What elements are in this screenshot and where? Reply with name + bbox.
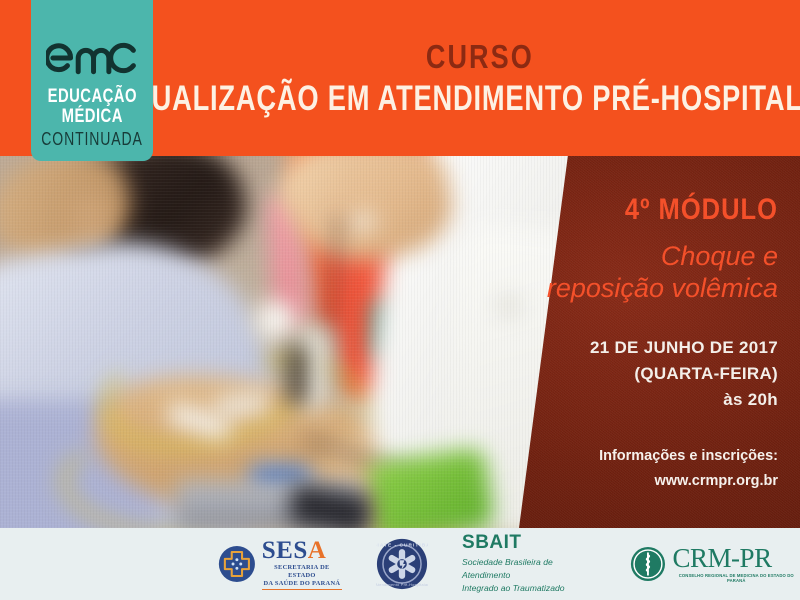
event-date-block: 21 DE JUNHO DE 2017 (QUARTA-FEIRA) às 20…: [0, 335, 778, 414]
module-info-panel: 4º MÓDULO Choque e reposição volêmica 21…: [0, 155, 800, 528]
event-weekday: (QUARTA-FEIRA): [0, 361, 778, 387]
sesa-word: SESA: [262, 538, 342, 563]
emc-logo-box: EDUCAÇÃO MÉDICA CONTINUADA: [31, 0, 153, 161]
logo-crm-pr: CRM-PR CONSELHO REGIONAL DE MEDICINA DO …: [630, 545, 800, 583]
module-subject-line-1: Choque e: [0, 241, 778, 273]
siate-ring-top-text: SIATE - CURITIBA: [376, 543, 428, 549]
header-text-group: CURSO ATUALIZAÇÃO EM ATENDIMENTO PRÉ-HOS…: [160, 0, 800, 156]
sesa-cross-badge-icon: [218, 544, 256, 584]
sesa-wordmark: SESA SECRETARIA DE ESTADO DA SAÚDE DO PA…: [262, 538, 342, 591]
emc-monogram-icon: [46, 41, 138, 75]
module-subject: Choque e reposição volêmica: [0, 241, 778, 305]
emc-line-1: EDUCAÇÃO: [47, 87, 136, 108]
siate-ring-bottom-text: Atendimento Pré-Hospitalar: [376, 583, 428, 587]
emc-line-2: MÉDICA: [61, 107, 122, 128]
sbait-wordmark: SBAIT Sociedade Brasileira de Atendiment…: [462, 533, 596, 596]
crm-asclepius-badge-icon: [630, 545, 666, 583]
sbait-subtitle-line-2: Integrado ao Traumatizado: [462, 582, 596, 595]
registration-label: Informações e inscrições:: [0, 444, 778, 469]
sesa-word-part-1: SES: [262, 537, 308, 564]
sesa-subtitle-line-1: SECRETARIA DE ESTADO: [262, 564, 342, 581]
event-poster: CURSO ATUALIZAÇÃO EM ATENDIMENTO PRÉ-HOS…: [0, 0, 800, 600]
module-number: 4º MÓDULO: [117, 195, 778, 225]
sesa-subtitle: SECRETARIA DE ESTADO DA SAÚDE DO PARANÁ: [262, 564, 342, 591]
sponsor-logo-row: SESA SECRETARIA DE ESTADO DA SAÚDE DO PA…: [218, 533, 800, 596]
sbait-word: SBAIT: [462, 533, 596, 552]
sbait-subtitle-line-1: Sociedade Brasileira de Atendimento: [462, 556, 596, 583]
siate-star-of-life-badge-icon: SIATE - CURITIBA Atendimento Pré-Hospita…: [376, 538, 428, 590]
crm-word: CRM-PR: [673, 545, 800, 572]
module-subject-line-2: reposição volêmica: [0, 273, 778, 305]
registration-url[interactable]: www.crmpr.org.br: [0, 469, 778, 494]
page-title: ATUALIZAÇÃO EM ATENDIMENTO PRÉ-HOSPITALA…: [116, 81, 800, 117]
crm-wordmark: CRM-PR CONSELHO REGIONAL DE MEDICINA DO …: [673, 545, 800, 582]
crm-subtitle: CONSELHO REGIONAL DE MEDICINA DO ESTADO …: [673, 574, 800, 582]
logo-sesa: SESA SECRETARIA DE ESTADO DA SAÚDE DO PA…: [218, 538, 342, 591]
logo-sbait: SBAIT Sociedade Brasileira de Atendiment…: [462, 533, 596, 596]
event-date: 21 DE JUNHO DE 2017: [0, 335, 778, 361]
course-kicker: CURSO: [426, 40, 534, 73]
sbait-subtitle: Sociedade Brasileira de Atendimento Inte…: [462, 556, 596, 596]
registration-info-block: Informações e inscrições: www.crmpr.org.…: [0, 444, 778, 495]
logo-siate: SIATE - CURITIBA Atendimento Pré-Hospita…: [376, 538, 428, 590]
sponsor-footer: SESA SECRETARIA DE ESTADO DA SAÚDE DO PA…: [0, 528, 800, 600]
sesa-subtitle-line-2: DA SAÚDE DO PARANÁ: [262, 580, 342, 588]
event-time: às 20h: [0, 387, 778, 413]
emc-line-3: CONTINUADA: [41, 130, 142, 149]
sesa-word-part-2: A: [308, 537, 327, 564]
